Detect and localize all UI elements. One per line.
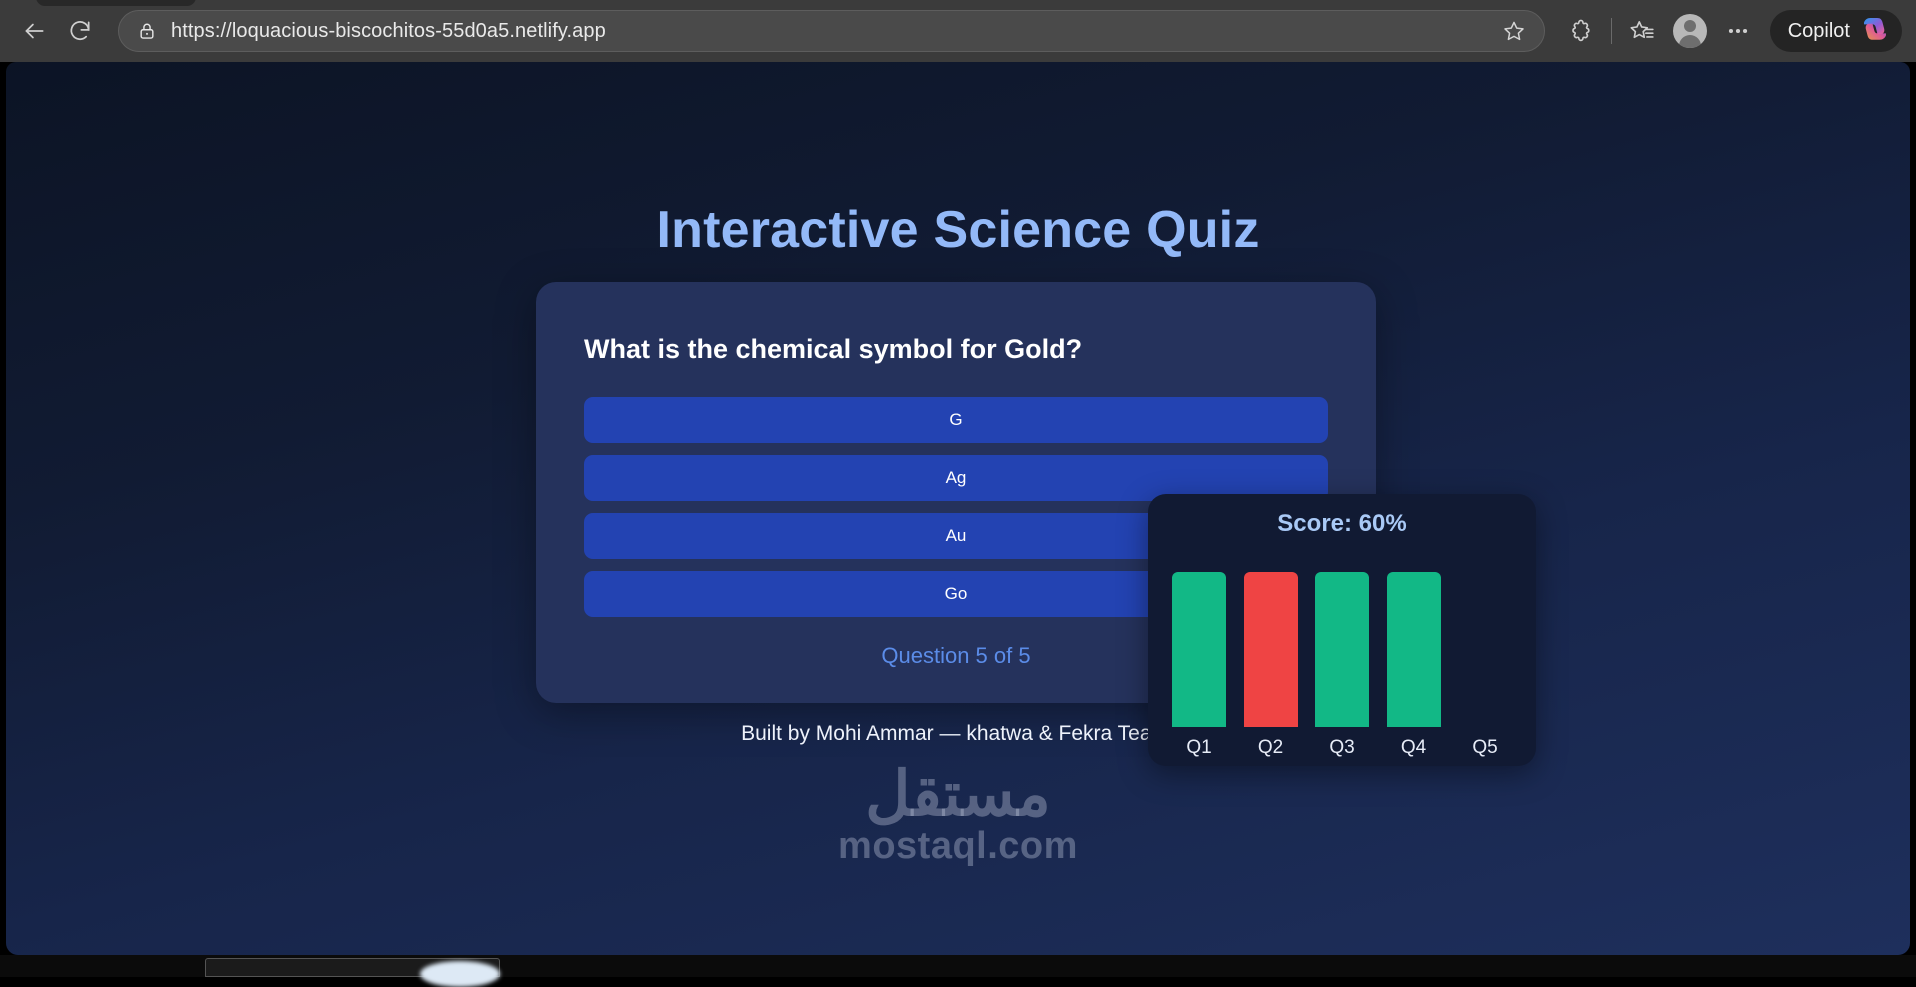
copilot-button[interactable]: Copilot [1770,10,1902,52]
chart-column: Q3 [1315,550,1369,760]
star-icon[interactable] [1494,11,1534,51]
footer-credit: Built by Mohi Ammar — khatwa & Fekra Tea… [6,722,1910,746]
copilot-logo-icon [1860,16,1890,47]
taskbar-glow [420,961,500,987]
os-taskbar [0,955,1916,977]
chart-bar-q2 [1244,572,1298,727]
collections-star-icon[interactable] [1622,11,1662,51]
lock-icon [137,21,157,41]
page-viewport: Interactive Science Quiz What is the che… [6,62,1910,955]
chart-tick-label: Q4 [1401,736,1426,760]
toolbar-divider [1611,18,1612,44]
chart-tick-label: Q2 [1258,736,1283,760]
browser-tab-stub[interactable] [36,0,196,6]
chart-bar-q1 [1172,572,1226,727]
reload-icon[interactable] [60,11,100,51]
chart-bar-q3 [1315,572,1369,727]
copilot-label: Copilot [1788,20,1850,43]
address-bar[interactable]: https://loquacious-biscochitos-55d0a5.ne… [118,10,1545,52]
question-text: What is the chemical symbol for Gold? [584,334,1328,365]
chart-column: Q4 [1387,550,1441,760]
score-panel: Score: 60% Q1Q2Q3Q4Q5 [1148,494,1536,766]
chart-bar-q4 [1387,572,1441,727]
ellipsis-icon[interactable] [1718,11,1758,51]
chart-column: Q5 [1458,550,1512,760]
profile-avatar-icon[interactable] [1673,14,1707,48]
browser-toolbar: https://loquacious-biscochitos-55d0a5.ne… [0,0,1916,62]
answer-option-1[interactable]: G [584,397,1328,443]
chart-column: Q1 [1172,550,1226,760]
score-bar-chart: Q1Q2Q3Q4Q5 [1166,550,1518,760]
score-label: Score: 60% [1166,510,1518,538]
chart-tick-label: Q1 [1186,736,1211,760]
quiz-app: Interactive Science Quiz What is the che… [6,62,1910,955]
url-text[interactable]: https://loquacious-biscochitos-55d0a5.ne… [171,20,1494,43]
back-arrow-icon[interactable] [14,11,54,51]
watermark-arabic-text: مستقل [6,762,1910,827]
watermark-domain-text: mostaql.com [6,825,1910,868]
page-title: Interactive Science Quiz [6,200,1910,260]
chart-tick-label: Q5 [1472,736,1497,760]
chart-column: Q2 [1244,550,1298,760]
chart-tick-label: Q3 [1329,736,1354,760]
mostaql-watermark: مستقل mostaql.com [6,762,1910,868]
extensions-puzzle-icon[interactable] [1561,11,1601,51]
